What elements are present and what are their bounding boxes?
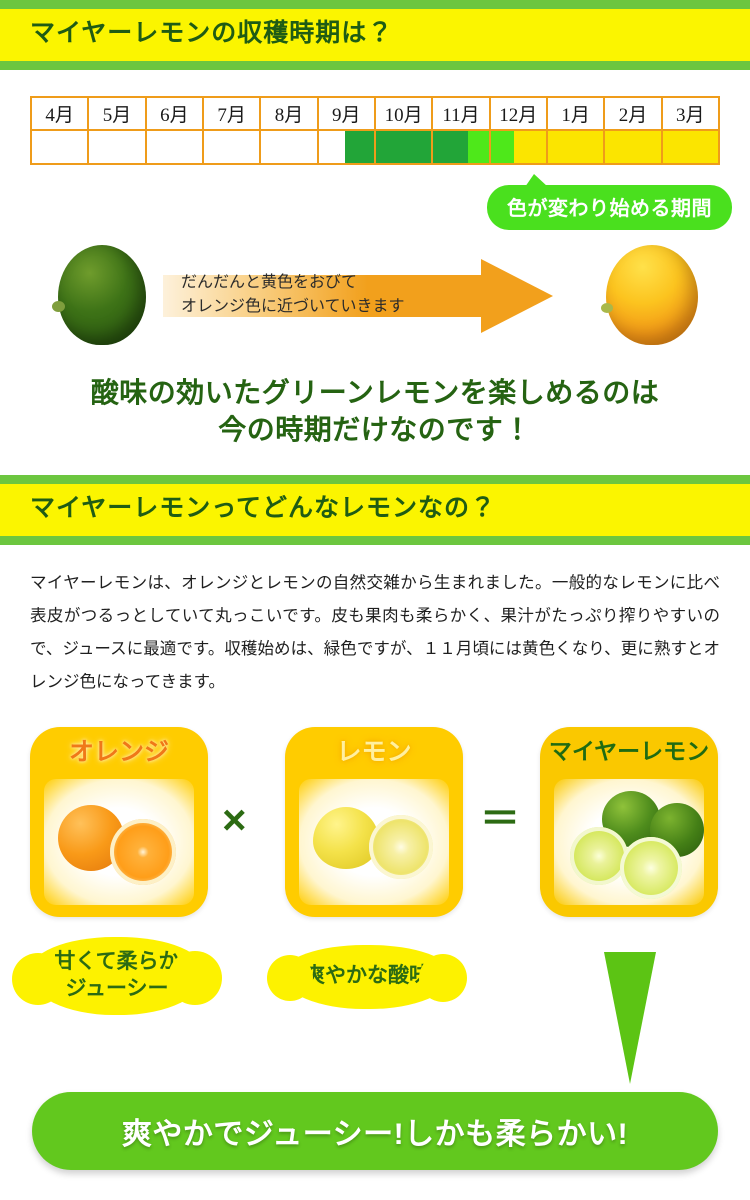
section1-headline: 酸味の効いたグリーンレモンを楽しめるのは 今の時期だけなのです！ [0,374,750,450]
harvest-calendar: 4月5月6月7月8月9月10月11月12月1月2月3月 [30,96,720,165]
down-arrow-icon [604,952,656,1084]
lemon-whole-icon [313,807,379,869]
meyer-lemon-card: マイヤーレモン [540,727,718,917]
section1-title: マイヤーレモンの収穫時期は？ [30,20,750,48]
calendar-month-cell: 9月 [319,98,376,131]
transition-arrow: だんだんと黄色をおびて オレンジ色に近づいていきます [163,261,583,331]
calendar-fill-cell [32,131,89,163]
lemon-half-icon [369,815,433,879]
meyer-lemon-photo [554,779,704,905]
final-banner: 爽やかでジューシー!しかも柔らかい! [32,1092,718,1170]
calendar-fill-segment [204,131,259,163]
calendar-fill-cell [433,131,490,163]
calendar-fill-segment [89,131,144,163]
orange-card-label: オレンジ [30,740,208,765]
header2-rule-top [0,475,750,484]
orange-card: オレンジ [30,727,208,917]
calendar-fill-cell [261,131,318,163]
calendar-fill-segment [147,131,202,163]
calendar-month-cell: 11月 [433,98,490,131]
color-transition-row: だんだんと黄色をおびて オレンジ色に近づいていきます [0,239,750,354]
calendar-month-cell: 5月 [89,98,146,131]
lemon-card: レモン [285,727,463,917]
calendar-month-cell: 12月 [491,98,548,131]
calendar-fill-cell [376,131,433,163]
trait-bubble-refreshing: 爽やかな酸味 [282,945,452,1009]
green-lemon-photo [58,245,146,345]
section2-title: マイヤーレモンってどんなレモンなの？ [30,495,750,523]
calendar-fill-cell [319,131,376,163]
meyer-half-icon-2 [620,837,682,899]
calendar-fill-cell [548,131,605,163]
calendar-color-row [32,131,718,163]
times-operator: × [222,799,247,841]
header2-yellow-band: マイヤーレモンってどんなレモンなの？ [0,484,750,536]
calendar-month-cell: 3月 [663,98,718,131]
bubble-tail-icon [525,174,548,187]
orange-half-icon [110,819,176,885]
calendar-month-cell: 2月 [605,98,662,131]
section1-header-band: マイヤーレモンの収穫時期は？ [0,0,750,70]
arrow-head-icon [481,259,553,333]
calendar-fill-segment [548,131,603,163]
meyer-half-icon-1 [570,827,628,885]
calendar-fill-segment [319,131,346,163]
section2-body-text: マイヤーレモンは、オレンジとレモンの自然交雑から生まれました。一般的なレモンに比… [25,567,725,699]
trait-bubble-sweet: 甘くて柔らか ジューシー [28,937,206,1015]
calendar-fill-segment [433,131,467,163]
header2-rule-bottom [0,536,750,545]
calendar-month-cell: 4月 [32,98,89,131]
calendar-month-cell: 8月 [261,98,318,131]
ripe-lemon-photo [606,245,698,345]
calendar-fill-segment [376,131,431,163]
final-banner-text: 爽やかでジューシー!しかも柔らかい! [122,1109,628,1153]
section2-header-band: マイヤーレモンってどんなレモンなの？ [0,475,750,545]
lemon-card-label: レモン [285,740,463,765]
lemon-photo [299,779,449,905]
header-rule-bottom [0,61,750,70]
crossbreed-equation: オレンジ × レモン ＝ マイヤーレモン [0,727,750,927]
calendar-month-cell: 1月 [548,98,605,131]
calendar-fill-segment [261,131,316,163]
calendar-fill-segment [32,131,87,163]
calendar-month-cell: 6月 [147,98,204,131]
color-change-bubble: 色が変わり始める期間 [487,185,732,230]
calendar-month-row: 4月5月6月7月8月9月10月11月12月1月2月3月 [32,98,718,131]
color-change-bubble-label: 色が変わり始める期間 [507,198,712,220]
calendar-fill-segment [468,131,489,163]
calendar-fill-cell [491,131,548,163]
calendar-fill-segment [345,131,374,163]
equals-operator: ＝ [480,799,520,839]
calendar-fill-segment [605,131,660,163]
calendar-month-cell: 10月 [376,98,433,131]
meyer-card-label: マイヤーレモン [540,740,718,763]
calendar-fill-cell [605,131,662,163]
calendar-fill-cell [204,131,261,163]
calendar-fill-segment [491,131,514,163]
calendar-fill-cell [89,131,146,163]
calendar-fill-segment [514,131,546,163]
transition-caption: だんだんと黄色をおびて オレンジ色に近づいていきます [181,271,405,319]
calendar-fill-cell [663,131,718,163]
calendar-fill-segment [663,131,718,163]
header-rule-top [0,0,750,9]
color-change-callout-row: 色が変わり始める期間 [0,171,750,231]
header-yellow-band: マイヤーレモンの収穫時期は？ [0,9,750,61]
calendar-month-cell: 7月 [204,98,261,131]
orange-photo [44,779,194,905]
calendar-fill-cell [147,131,204,163]
